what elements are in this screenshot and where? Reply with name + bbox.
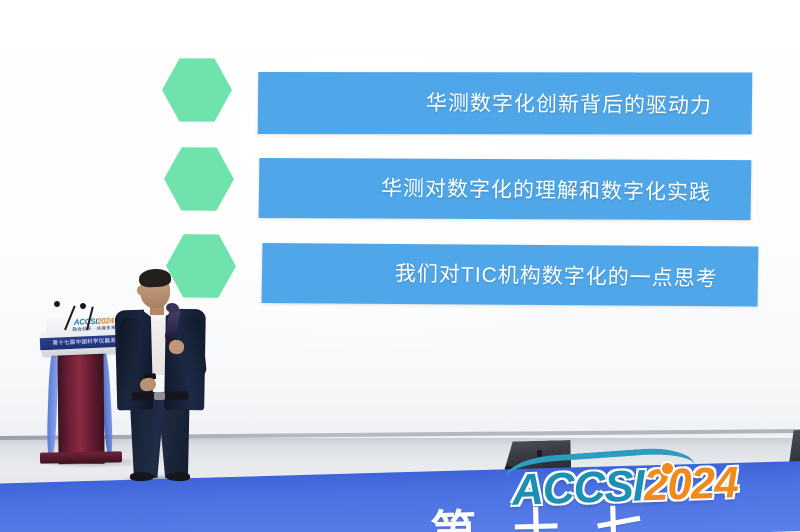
speaker-hair xyxy=(139,268,172,288)
slide-bullet-bar-1: 华测数字化创新背后的驱动力 xyxy=(258,72,753,134)
podium-microphone-head-icon xyxy=(54,301,60,307)
podium-body xyxy=(57,348,104,464)
podium-base xyxy=(40,451,122,463)
accsi-logo-acc-text: ACCSI xyxy=(511,461,645,515)
speaker-shoe-right xyxy=(166,472,190,482)
slide-bullet-text-1: 华测数字化创新背后的驱动力 xyxy=(426,87,712,120)
podium-microphone-head-icon xyxy=(80,303,86,309)
accsi-logo-dot-icon xyxy=(662,463,673,474)
accsi-logo-year-text: 2024 xyxy=(643,458,739,510)
slide-bullet-text-2: 华测对数字化的理解和数字化实践 xyxy=(381,172,711,207)
speaker-ear xyxy=(137,286,143,295)
speaker-shoe-left xyxy=(130,472,154,482)
accsi-logo: ACCSI2024 xyxy=(511,458,738,516)
slide-bullet-bar-3: 我们对TIC机构数字化的一点思考 xyxy=(262,243,759,306)
slide-bullet-text-3: 我们对TIC机构数字化的一点思考 xyxy=(395,257,718,292)
slide-bullet-bar-2: 华测对数字化的理解和数字化实践 xyxy=(259,158,752,220)
speaker-arm-left xyxy=(116,317,142,392)
speaker-belt-buckle xyxy=(154,392,165,400)
screenshot-root: 华测数字化创新背后的驱动力 华测对数字化的理解和数字化实践 我们对TIC机构数字… xyxy=(0,0,800,532)
